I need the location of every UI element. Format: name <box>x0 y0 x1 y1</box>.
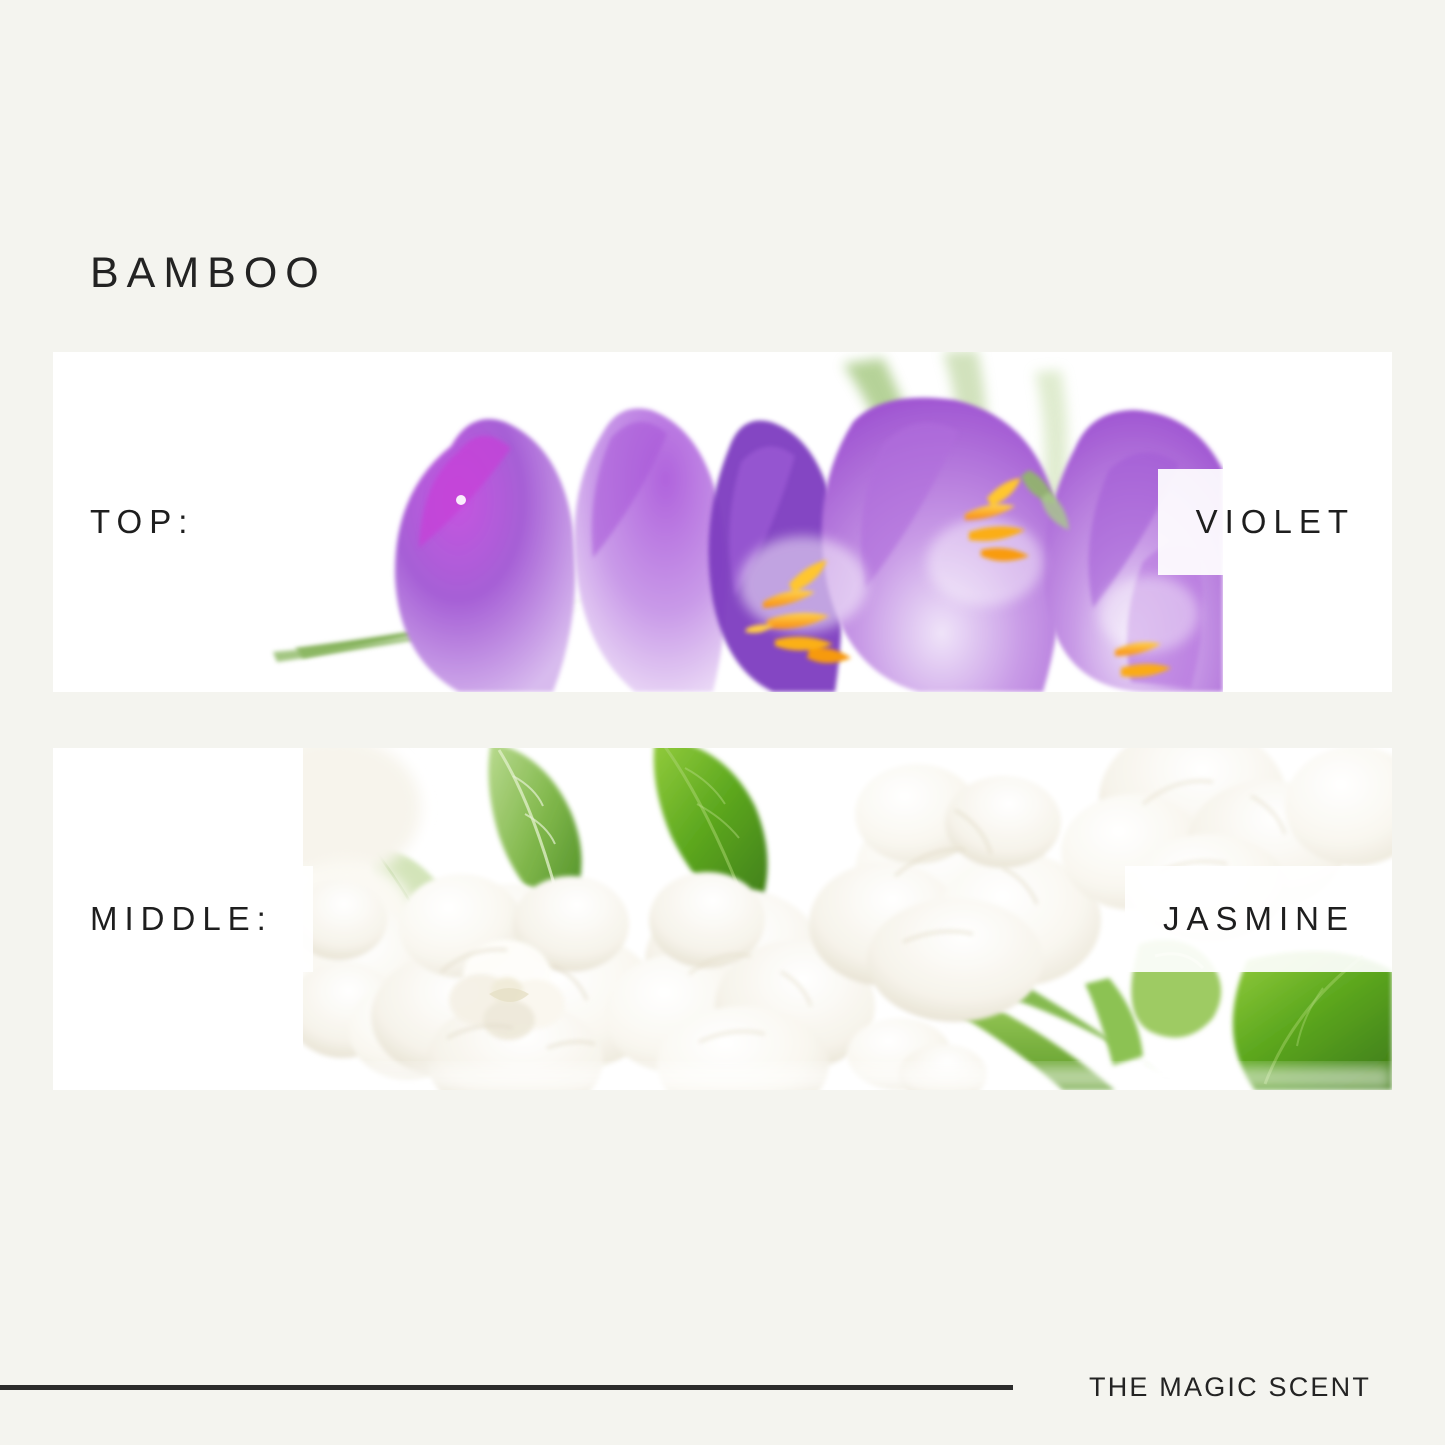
note-value-top: VIOLET <box>1196 503 1355 541</box>
brand-name: THE MAGIC SCENT <box>1089 1372 1371 1403</box>
note-label-top: TOP: <box>90 503 194 541</box>
footer-divider <box>0 1385 1013 1390</box>
page-title: BAMBOO <box>90 252 327 295</box>
violet-flower-image <box>243 352 1223 692</box>
scent-notes-card: BAMBOO <box>0 0 1445 1445</box>
note-value-middle: JASMINE <box>1163 900 1355 938</box>
note-row-top: TOP: VIOLET <box>53 352 1392 692</box>
note-label-middle: MIDDLE: <box>90 900 273 938</box>
note-row-middle: MIDDLE: JASMINE <box>53 748 1392 1090</box>
